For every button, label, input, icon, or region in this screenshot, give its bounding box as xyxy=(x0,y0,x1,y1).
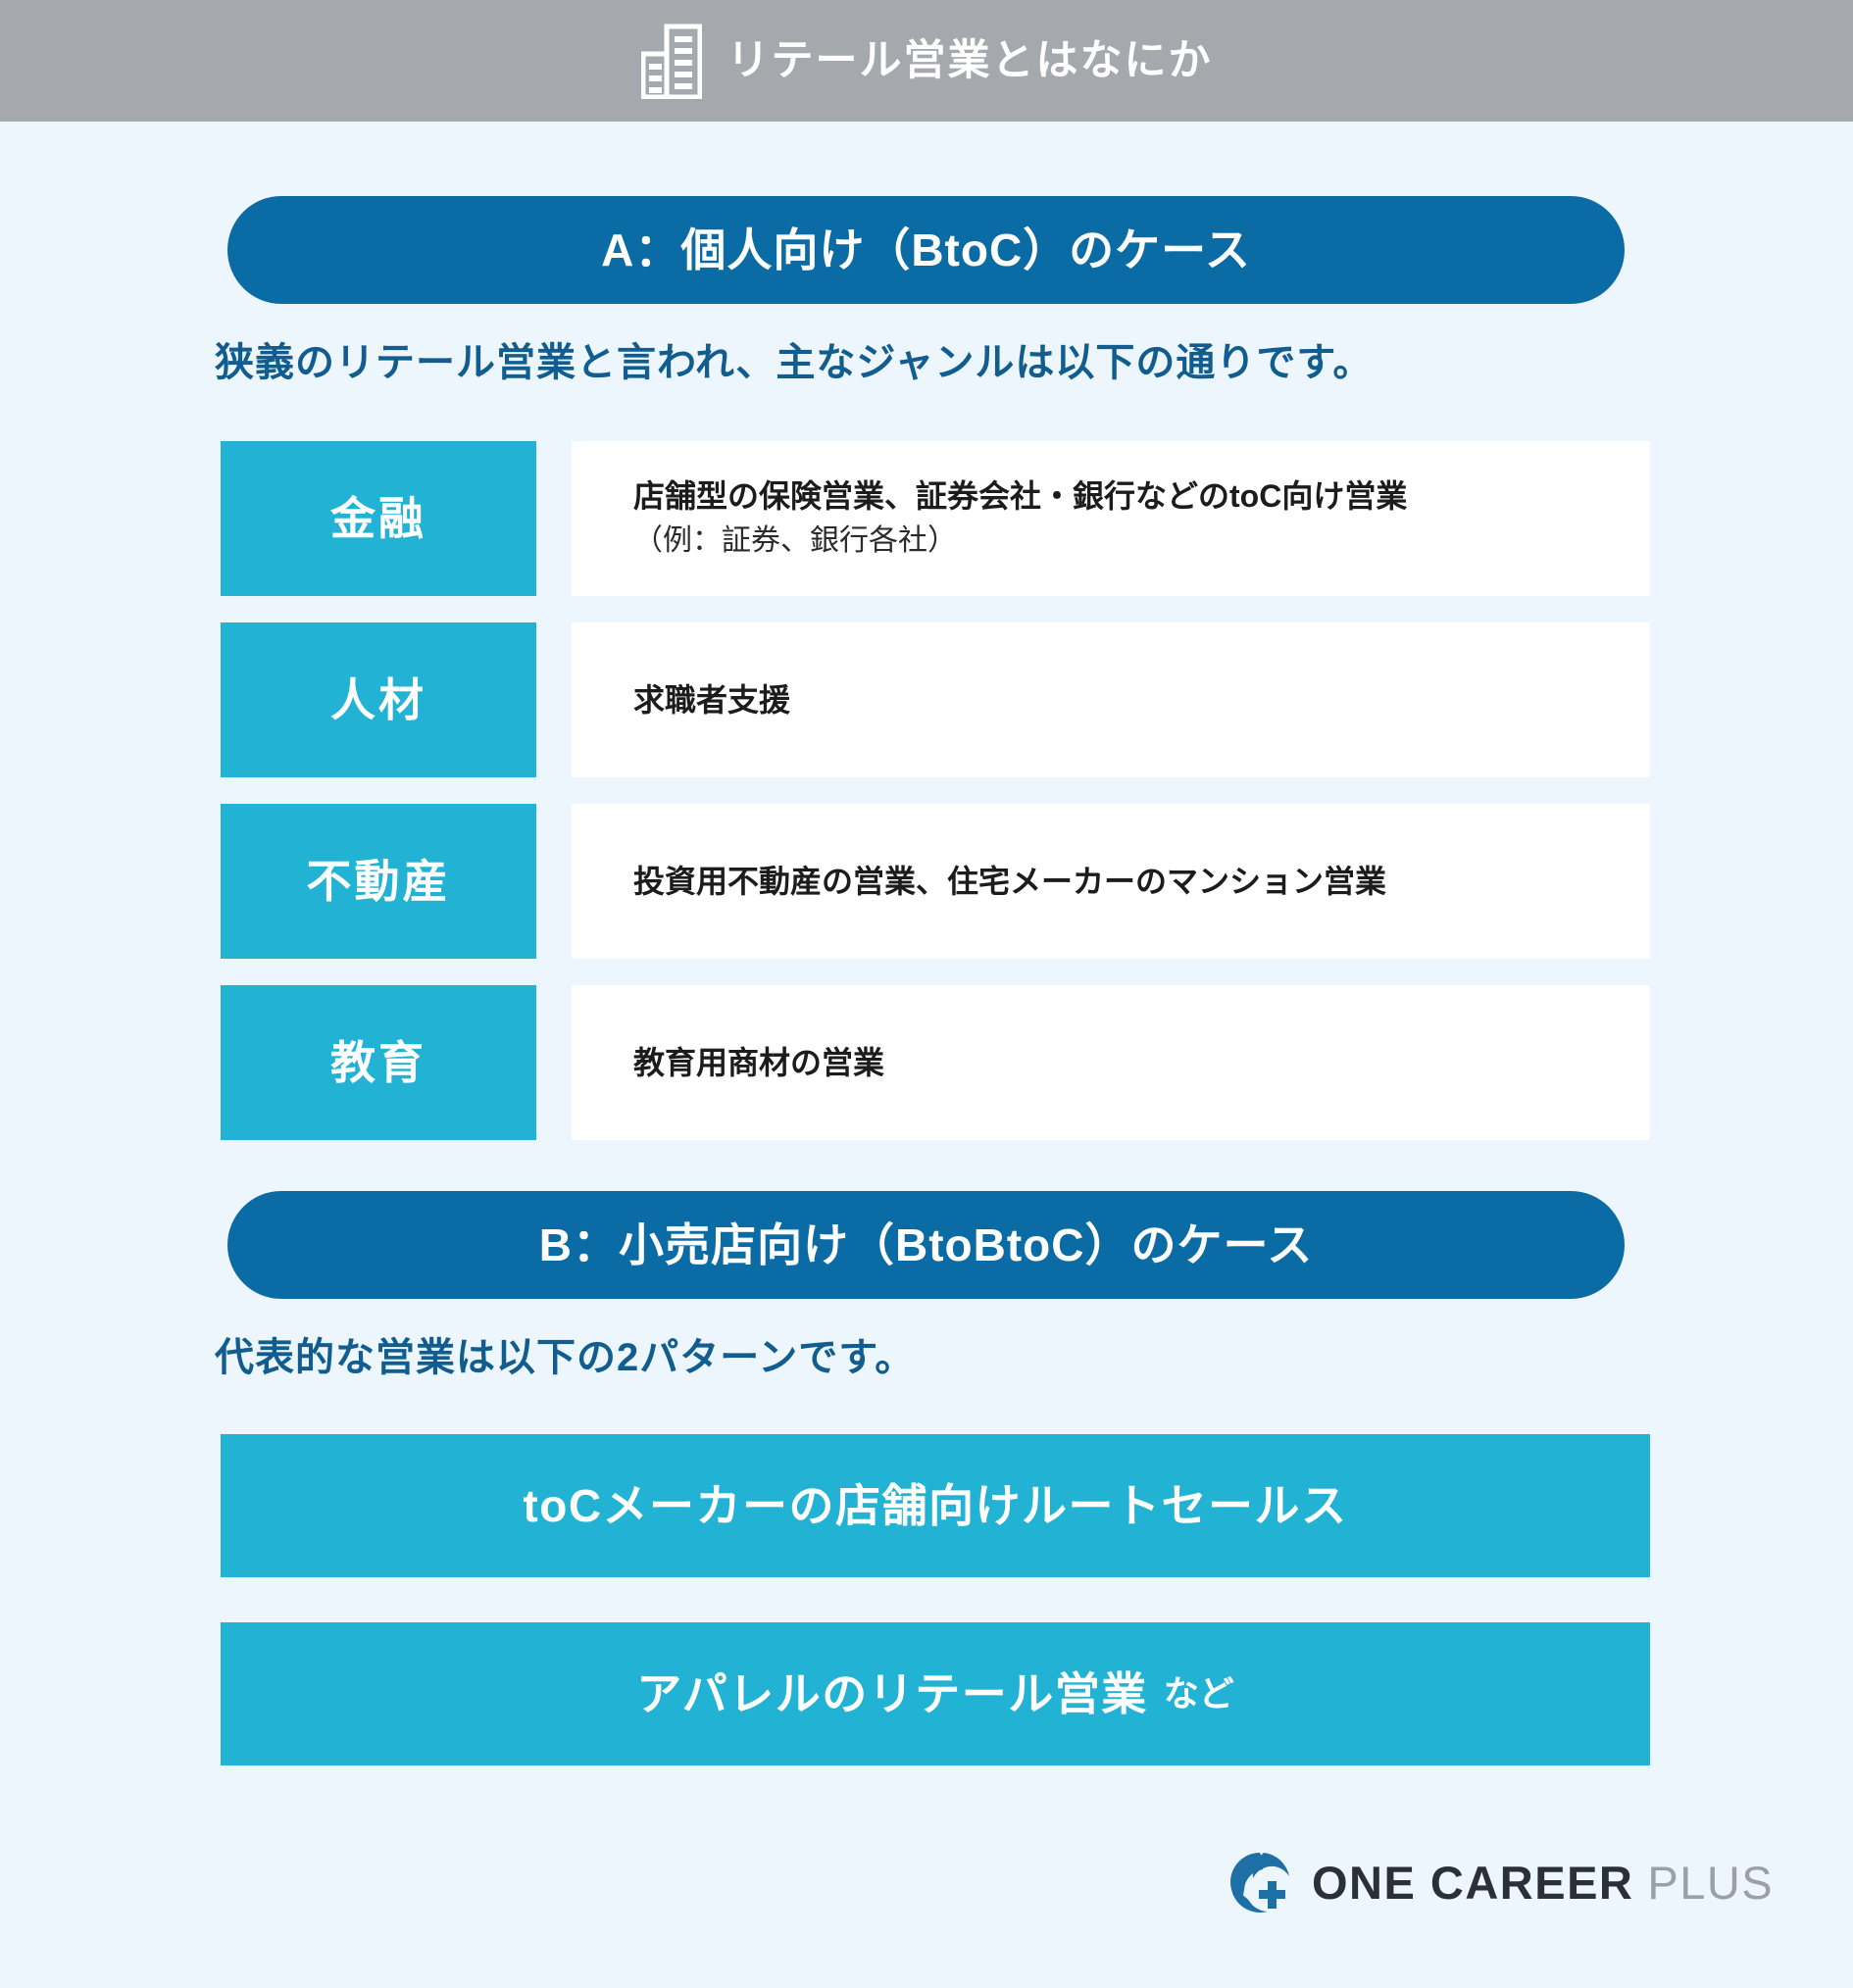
logo-wordmark: ONE CAREER PLUS xyxy=(1312,1860,1774,1906)
building-icon xyxy=(641,23,702,99)
genre-tag-label: 教育 xyxy=(330,1040,426,1085)
section-a-pill-header: A：個人向け（BtoC）のケース xyxy=(227,196,1625,304)
genre-tag: 金融 xyxy=(221,441,536,596)
genre-description: 教育用商材の営業 xyxy=(572,985,1650,1140)
genre-description: 求職者支援 xyxy=(572,622,1650,777)
genre-description-main: 求職者支援 xyxy=(633,680,1650,720)
pattern-bar-label: toCメーカーの店舗向けルートセールス xyxy=(523,1483,1347,1528)
header-title: リテール営業とはなにか xyxy=(727,40,1213,82)
pattern-bar-label: アパレルのリテール営業 xyxy=(636,1671,1148,1716)
pattern-bar-suffix: など xyxy=(1164,1676,1234,1712)
genre-tag-label: 不動産 xyxy=(307,859,451,904)
genre-tag: 不動産 xyxy=(221,804,536,959)
genre-description-main: 店舗型の保険営業、証券会社・銀行などのtoC向け営業 xyxy=(633,476,1650,516)
genre-row: 教育 教育用商材の営業 xyxy=(0,985,1853,1140)
genre-row: 人材 求職者支援 xyxy=(0,622,1853,777)
genre-tag: 教育 xyxy=(221,985,536,1140)
section-a-lead-text: 狭義のリテール営業と言われ、主なジャンルは以下の通りです。 xyxy=(215,343,1373,382)
genre-tag-label: 金融 xyxy=(330,496,426,541)
section-b-lead-text: 代表的な営業は以下の2パターンです。 xyxy=(215,1338,915,1377)
genre-description-main: 教育用商材の営業 xyxy=(633,1043,1650,1082)
section-a-pill-label: A：個人向け（BtoC）のケース xyxy=(601,227,1251,273)
genre-row: 金融 店舗型の保険営業、証券会社・銀行などのtoC向け営業 （例：証券、銀行各社… xyxy=(0,441,1853,596)
pattern-bar: toCメーカーの店舗向けルートセールス xyxy=(221,1434,1650,1577)
genre-tag-label: 人材 xyxy=(330,677,426,722)
section-b-pill-header: B：小売店向け（BtoBtoC）のケース xyxy=(227,1191,1625,1299)
genre-description-main: 投資用不動産の営業、住宅メーカーのマンション営業 xyxy=(633,862,1650,901)
logo-secondary-text: PLUS xyxy=(1647,1860,1774,1906)
genre-description: 投資用不動産の営業、住宅メーカーのマンション営業 xyxy=(572,804,1650,959)
genre-description-sub: （例：証券、銀行各社） xyxy=(633,522,1650,562)
header-bar: リテール営業とはなにか xyxy=(0,0,1853,122)
one-career-plus-logo: ONE CAREER PLUS xyxy=(1227,1850,1774,1914)
pattern-bar: アパレルのリテール営業 など xyxy=(221,1622,1650,1765)
genre-row: 不動産 投資用不動産の営業、住宅メーカーのマンション営業 xyxy=(0,804,1853,959)
genre-tag: 人材 xyxy=(221,622,536,777)
genre-description: 店舗型の保険営業、証券会社・銀行などのtoC向け営業 （例：証券、銀行各社） xyxy=(572,441,1650,596)
section-b-pill-label: B：小売店向け（BtoBtoC）のケース xyxy=(539,1222,1313,1267)
logo-primary-text: ONE CAREER xyxy=(1312,1860,1633,1906)
one-career-plus-mark-icon xyxy=(1227,1850,1292,1914)
